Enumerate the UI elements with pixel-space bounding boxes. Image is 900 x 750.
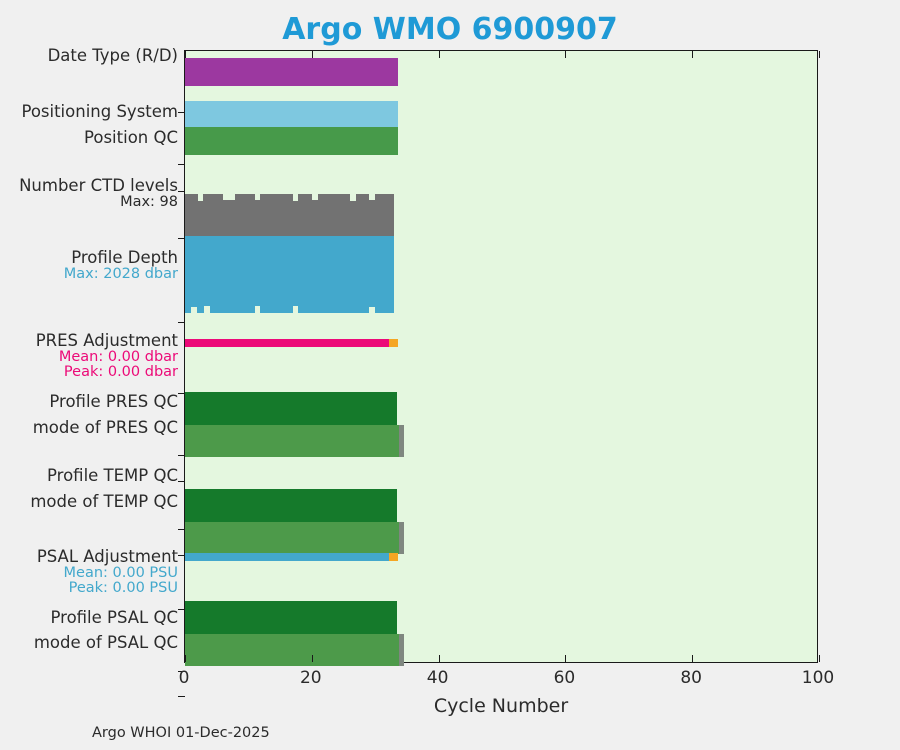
x-tick-mark-top bbox=[312, 51, 313, 58]
bar-profile_depth-notch bbox=[293, 306, 299, 313]
x-tick-label: 20 bbox=[300, 668, 322, 688]
x-tick-mark-top bbox=[439, 51, 440, 58]
bar-ctd_levels-notch bbox=[293, 194, 299, 201]
argo-float-summary-figure: Argo WMO 6900907 Date Type (R/D)Position… bbox=[0, 0, 900, 750]
row-label-text: Profile PRES QC bbox=[0, 393, 178, 411]
bar-ctd_levels-notch bbox=[198, 194, 204, 201]
bar-mode_psal_qc bbox=[185, 634, 399, 666]
bar-positioning_system bbox=[185, 101, 398, 127]
x-tick-label: 0 bbox=[179, 668, 190, 688]
y-tick-ctd_levels bbox=[178, 238, 185, 239]
x-tick-label: 40 bbox=[427, 668, 449, 688]
row-label-psal_adjustment: PSAL AdjustmentMean: 0.00 PSUPeak: 0.00 … bbox=[0, 548, 178, 597]
bar-date_type bbox=[185, 58, 398, 86]
x-tick-mark-top bbox=[185, 51, 186, 58]
y-tick-mode_pres_qc bbox=[178, 481, 185, 482]
x-tick-mark-top bbox=[565, 51, 566, 58]
x-tick-mark bbox=[692, 655, 693, 662]
y-tick-profile_depth bbox=[178, 322, 185, 323]
row-label-profile_temp_qc: Profile TEMP QC bbox=[0, 467, 178, 485]
row-label-text: Profile Depth bbox=[0, 249, 178, 267]
row-label-mode_pres_qc: mode of PRES QC bbox=[0, 419, 178, 437]
plot-area bbox=[184, 50, 818, 663]
row-label-mode_psal_qc: mode of PSAL QC bbox=[0, 634, 178, 652]
row-label-text: Number CTD levels bbox=[0, 177, 178, 195]
x-tick-label: 100 bbox=[802, 668, 834, 688]
bar-psal_adjustment bbox=[185, 553, 389, 561]
bar-profile_depth-notch bbox=[255, 306, 261, 313]
row-label-text: mode of TEMP QC bbox=[0, 493, 178, 511]
x-tick-mark bbox=[312, 655, 313, 662]
bar-profile_psal_qc bbox=[185, 601, 397, 634]
x-tick-mark bbox=[819, 655, 820, 662]
bar-mode_pres_qc bbox=[185, 425, 399, 457]
row-label-text: Date Type (R/D) bbox=[0, 47, 178, 65]
y-tick-profile_temp_qc bbox=[178, 529, 185, 530]
bar-ctd_levels-notch bbox=[255, 194, 261, 200]
row-label-text: mode of PRES QC bbox=[0, 419, 178, 437]
x-tick-label: 80 bbox=[680, 668, 702, 688]
row-label-pres_adjustment: PRES AdjustmentMean: 0.00 dbarPeak: 0.00… bbox=[0, 332, 178, 381]
y-tick-psal_adjustment bbox=[178, 609, 185, 610]
row-label-annotation: Peak: 0.00 dbar bbox=[0, 365, 178, 381]
row-label-profile_pres_qc: Profile PRES QC bbox=[0, 393, 178, 411]
row-label-annotation: Mean: 0.00 dbar bbox=[0, 350, 178, 366]
bar-ctd_levels-notch bbox=[223, 194, 229, 200]
x-tick-mark-top bbox=[819, 51, 820, 58]
row-label-profile_psal_qc: Profile PSAL QC bbox=[0, 609, 178, 627]
bar-profile_temp_qc bbox=[185, 489, 397, 522]
x-tick-mark bbox=[185, 655, 186, 662]
bar-profile_depth-notch bbox=[204, 306, 210, 313]
row-label-text: Profile TEMP QC bbox=[0, 467, 178, 485]
row-label-annotation: Mean: 0.00 PSU bbox=[0, 566, 178, 582]
row-label-date_type: Date Type (R/D) bbox=[0, 47, 178, 65]
row-label-text: Profile PSAL QC bbox=[0, 609, 178, 627]
bar-position_qc bbox=[185, 127, 398, 155]
bar-ctd_levels-notch bbox=[369, 194, 375, 200]
row-label-positioning_system: Positioning System bbox=[0, 103, 178, 121]
bar-ctd_levels-notch bbox=[350, 194, 356, 201]
row-label-text: Positioning System bbox=[0, 103, 178, 121]
bar-pres_adjustment bbox=[185, 339, 389, 347]
x-tick-mark-top bbox=[692, 51, 693, 58]
bar-ctd_levels-notch bbox=[229, 194, 235, 200]
y-tick-position_qc bbox=[178, 191, 185, 192]
bar-ctd_levels bbox=[185, 194, 394, 239]
y-tick-pres_adjustment bbox=[178, 393, 185, 394]
x-tick-label: 60 bbox=[554, 668, 576, 688]
y-tick-mode_temp_qc bbox=[178, 555, 185, 556]
row-label-profile_depth: Profile DepthMax: 2028 dbar bbox=[0, 249, 178, 282]
x-tick-mark bbox=[565, 655, 566, 662]
bar-profile_pres_qc bbox=[185, 392, 397, 425]
bar-profile_depth bbox=[185, 236, 394, 313]
footer-credit: Argo WHOI 01-Dec-2025 bbox=[92, 725, 270, 741]
row-label-annotation: Max: 98 bbox=[0, 195, 178, 211]
bar-profile_depth-notch bbox=[191, 307, 197, 313]
row-label-annotation: Max: 2028 dbar bbox=[0, 267, 178, 283]
row-label-text: mode of PSAL QC bbox=[0, 634, 178, 652]
y-tick-positioning_system bbox=[178, 164, 185, 165]
bar-profile_depth-notch bbox=[369, 307, 375, 313]
bar-ctd_levels-notch bbox=[312, 194, 318, 200]
row-label-ctd_levels: Number CTD levelsMax: 98 bbox=[0, 177, 178, 210]
bar-mode_temp_qc bbox=[185, 522, 399, 554]
row-label-text: PRES Adjustment bbox=[0, 332, 178, 350]
page-title: Argo WMO 6900907 bbox=[0, 12, 900, 47]
row-label-text: PSAL Adjustment bbox=[0, 548, 178, 566]
row-label-annotation: Peak: 0.00 PSU bbox=[0, 581, 178, 597]
row-label-position_qc: Position QC bbox=[0, 129, 178, 147]
y-tick-date_type bbox=[178, 112, 185, 113]
x-axis-label: Cycle Number bbox=[184, 695, 818, 717]
row-label-mode_temp_qc: mode of TEMP QC bbox=[0, 493, 178, 511]
x-tick-mark bbox=[439, 655, 440, 662]
row-label-text: Position QC bbox=[0, 129, 178, 147]
y-tick-profile_pres_qc bbox=[178, 455, 185, 456]
